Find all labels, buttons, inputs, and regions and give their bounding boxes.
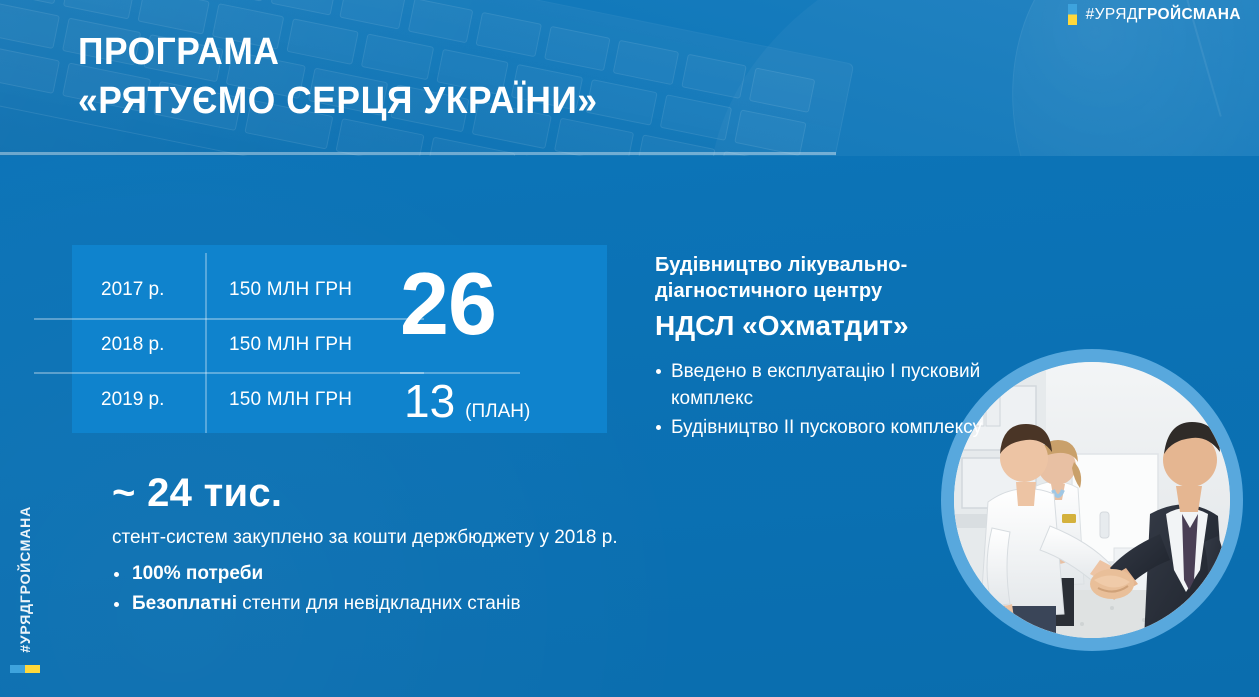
- handshake-photo-illustration: [954, 362, 1230, 638]
- hashtag-badge-light: #УРЯД: [1086, 6, 1138, 23]
- funding-amount: 150 МЛН ГРН: [205, 279, 352, 301]
- photo-ring: [941, 349, 1243, 651]
- table-row: 2018 р. 150 МЛН ГРН: [72, 318, 352, 372]
- stents-subtitle: стент-систем закуплено за кошти держбюдж…: [112, 524, 652, 551]
- avatar: [954, 362, 1230, 638]
- list-item: Введено в експлуатацію І пусковий компле…: [655, 358, 985, 412]
- funding-amount: 150 МЛН ГРН: [205, 334, 352, 356]
- center-construction-block: Будівництво лікувально-діагностичного це…: [655, 252, 985, 443]
- center-bullet-list: Введено в експлуатацію І пусковий компле…: [655, 358, 985, 441]
- stents-block: ~ 24 тис. стент-систем закуплено за кошт…: [112, 470, 652, 619]
- plan-figure: 13 (ПЛАН): [404, 378, 530, 424]
- funding-year: 2018 р.: [72, 334, 205, 356]
- hashtag-badge-bold: ГРОЙСМАНА: [1138, 6, 1241, 23]
- list-item: Будівництво ІІ пускового комплексу: [655, 414, 985, 441]
- header-divider: [0, 152, 836, 155]
- page-title: ПРОГРАМА «РЯТУЄМО СЕРЦЯ УКРАЇНИ»: [78, 28, 637, 126]
- list-item: 100% потреби: [112, 559, 652, 589]
- ukraine-flag-icon: [10, 665, 40, 673]
- stents-bullet-list: 100% потреби Безоплатні стенти для невід…: [112, 559, 652, 619]
- funding-amount: 150 МЛН ГРН: [205, 389, 352, 411]
- ukraine-flag-icon: [1068, 4, 1077, 25]
- table-row: 2019 р. 150 МЛН ГРН: [72, 373, 352, 427]
- list-item: Безоплатні стенти для невідкладних стані…: [112, 589, 652, 619]
- highlight-number: 26: [400, 262, 496, 346]
- side-hashtag-label: #УРЯДГРОЙСМАНА: [17, 506, 33, 653]
- side-hashtag: #УРЯДГРОЙСМАНА: [8, 506, 42, 673]
- center-title-small: Будівництво лікувально-діагностичного це…: [655, 252, 985, 304]
- page-title-line-2: «РЯТУЄМО СЕРЦЯ УКРАЇНИ»: [78, 77, 598, 126]
- slide-root: #УРЯДГРОЙСМАНА ПРОГРАМА «РЯТУЄМО СЕРЦЯ У…: [0, 0, 1259, 697]
- table-row: 2017 р. 150 МЛН ГРН: [72, 263, 352, 317]
- page-title-line-1: ПРОГРАМА: [78, 28, 598, 77]
- center-title-big: НДСЛ «Охматдит»: [655, 308, 985, 344]
- plan-number: 13: [404, 378, 455, 424]
- hashtag-badge-label: #УРЯДГРОЙСМАНА: [1086, 6, 1241, 24]
- hashtag-badge: #УРЯДГРОЙСМАНА: [1068, 4, 1241, 25]
- plan-label: (ПЛАН): [465, 401, 530, 423]
- stents-bullet-bold: 100% потреби: [132, 563, 263, 584]
- funding-year: 2019 р.: [72, 389, 205, 411]
- funding-year: 2017 р.: [72, 279, 205, 301]
- stents-bullet-rest: стенти для невідкладних станів: [237, 593, 521, 614]
- stents-headline: ~ 24 тис.: [112, 470, 652, 516]
- stents-bullet-bold: Безоплатні: [132, 593, 237, 614]
